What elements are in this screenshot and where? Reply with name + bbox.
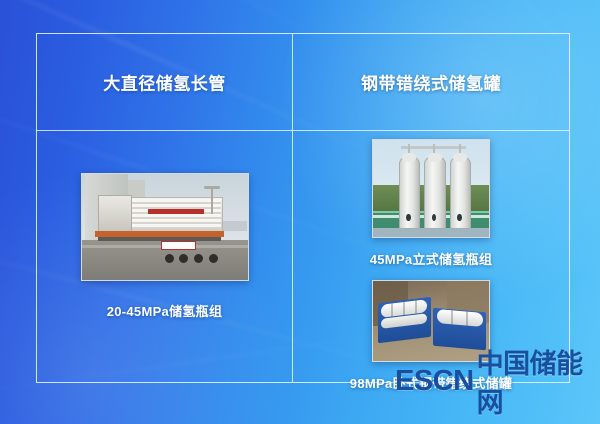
column-header-left: 大直径储氢长管 [37,70,292,95]
slide-canvas: 大直径储氢长管 钢带错绕式储氢罐 [0,0,600,424]
table-header-cell-right: 钢带错绕式储氢罐 [293,34,569,131]
caption-right-1: 45MPa立式储氢瓶组 [370,249,493,268]
tube-trailer-photo [81,173,249,281]
comparison-table: 大直径储氢长管 钢带错绕式储氢罐 [36,33,570,383]
vertical-cylinder-bank-photo [372,139,490,238]
watermark-english-text: ESCN [395,365,474,398]
escn-watermark: ESCN 中国储能网 [395,342,600,420]
table-header-cell-left: 大直径储氢长管 [37,34,293,131]
caption-left-1: 20-45MPa储氢瓶组 [107,301,223,320]
watermark-chinese-text: 中国储能网 [477,342,600,420]
left-media-stack: 20-45MPa储氢瓶组 [37,173,292,320]
table-body-cell-left: 20-45MPa储氢瓶组 [37,131,293,382]
column-header-right: 钢带错绕式储氢罐 [293,70,569,95]
